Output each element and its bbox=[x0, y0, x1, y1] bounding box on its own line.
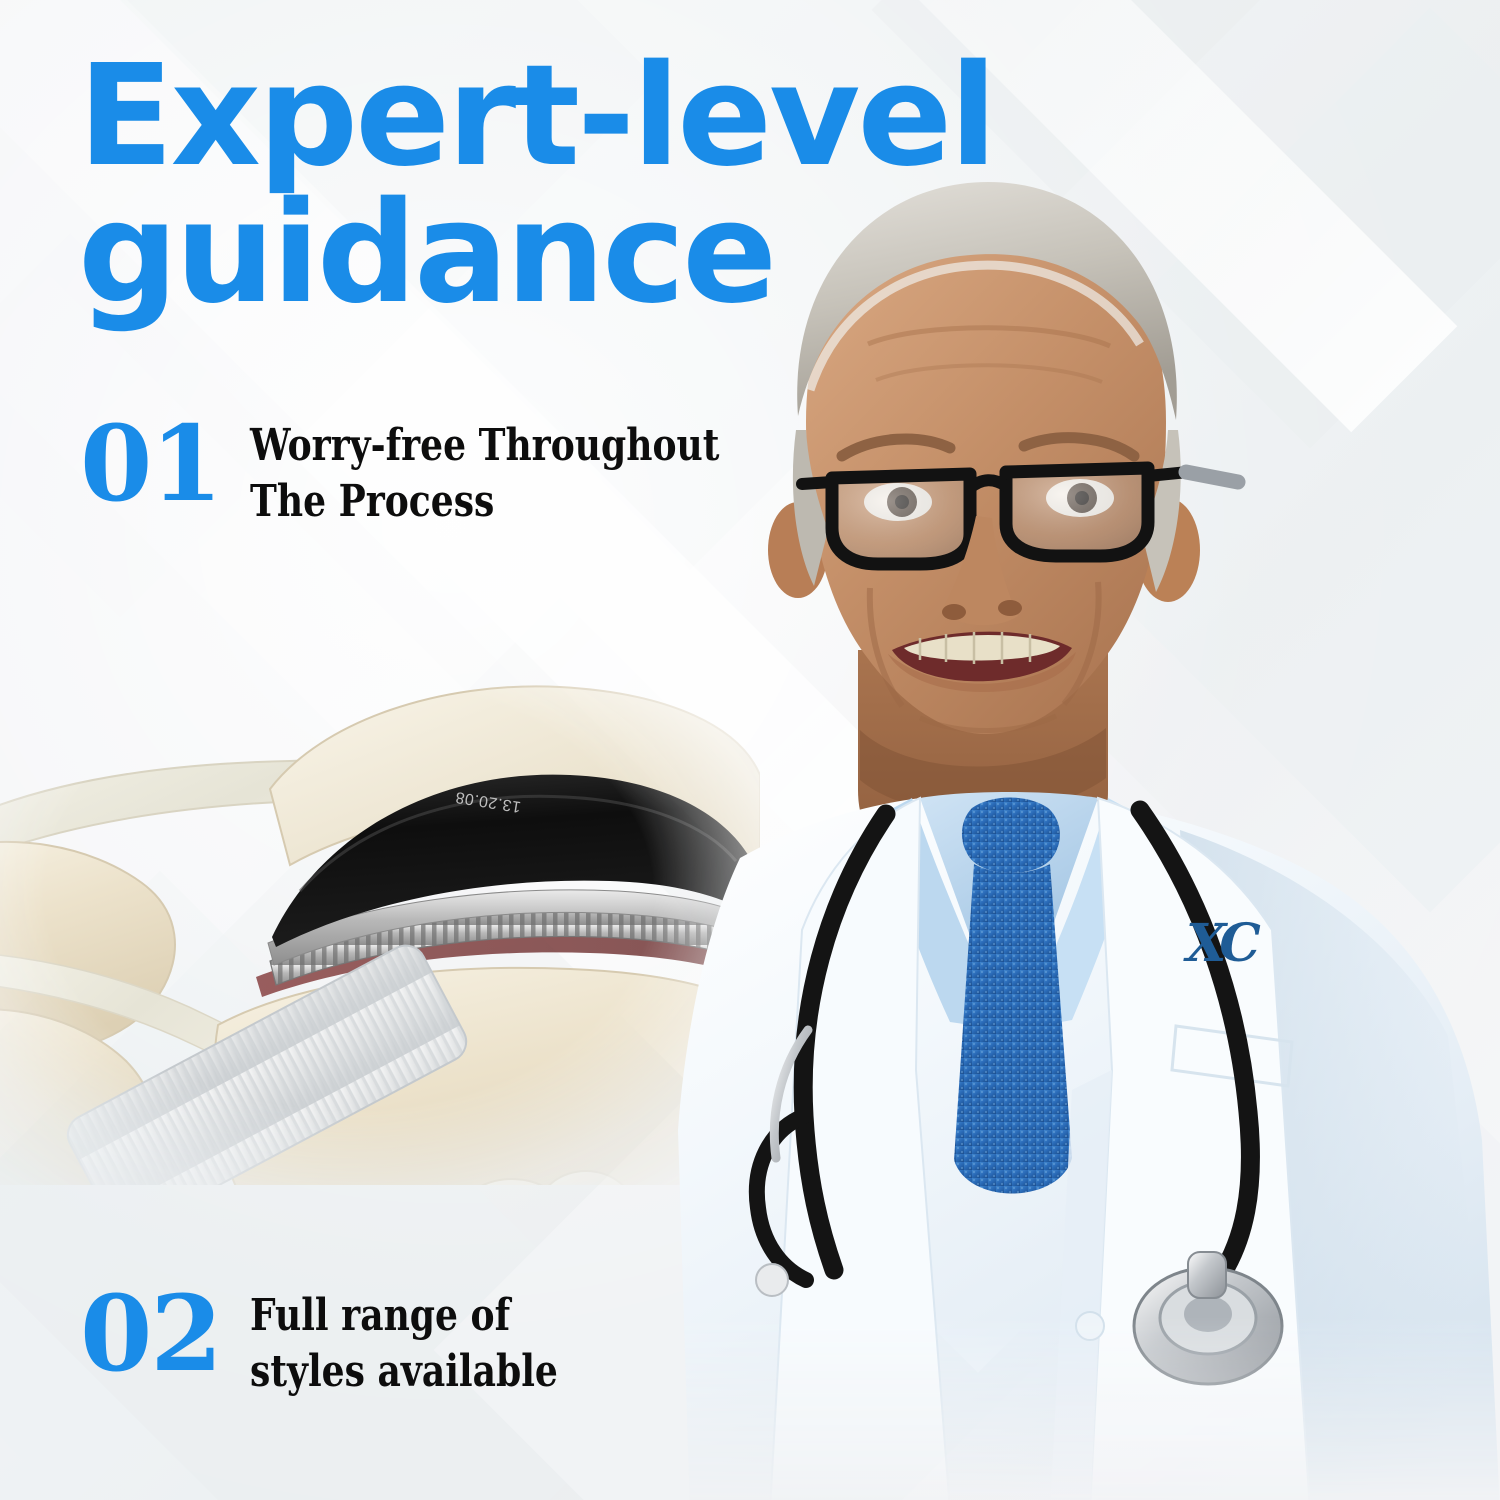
coat-button bbox=[1076, 1312, 1104, 1340]
lab-coat-logo-mark: XC bbox=[1186, 913, 1255, 974]
necktie-knot bbox=[962, 798, 1060, 874]
page-title: Expert-level guidance bbox=[78, 48, 1008, 322]
glasses-temple-arm bbox=[1186, 472, 1238, 482]
feature-label: Worry-free Throughout The Process bbox=[250, 412, 775, 531]
lab-coat-logo: XC bbox=[1186, 918, 1255, 970]
feature-number: 02 bbox=[80, 1282, 250, 1386]
feature-item-02: 02 Full range of styles available bbox=[80, 1282, 890, 1401]
nostril-left bbox=[942, 604, 966, 620]
nostril-right bbox=[998, 600, 1022, 616]
promo-poster: 13.20.08 bbox=[0, 0, 1500, 1500]
glasses-lens-right bbox=[1006, 468, 1148, 556]
feature-label: Full range of styles available bbox=[250, 1282, 775, 1401]
feature-number: 01 bbox=[80, 412, 250, 516]
feature-item-01: 01 Worry-free Throughout The Process bbox=[80, 412, 890, 531]
